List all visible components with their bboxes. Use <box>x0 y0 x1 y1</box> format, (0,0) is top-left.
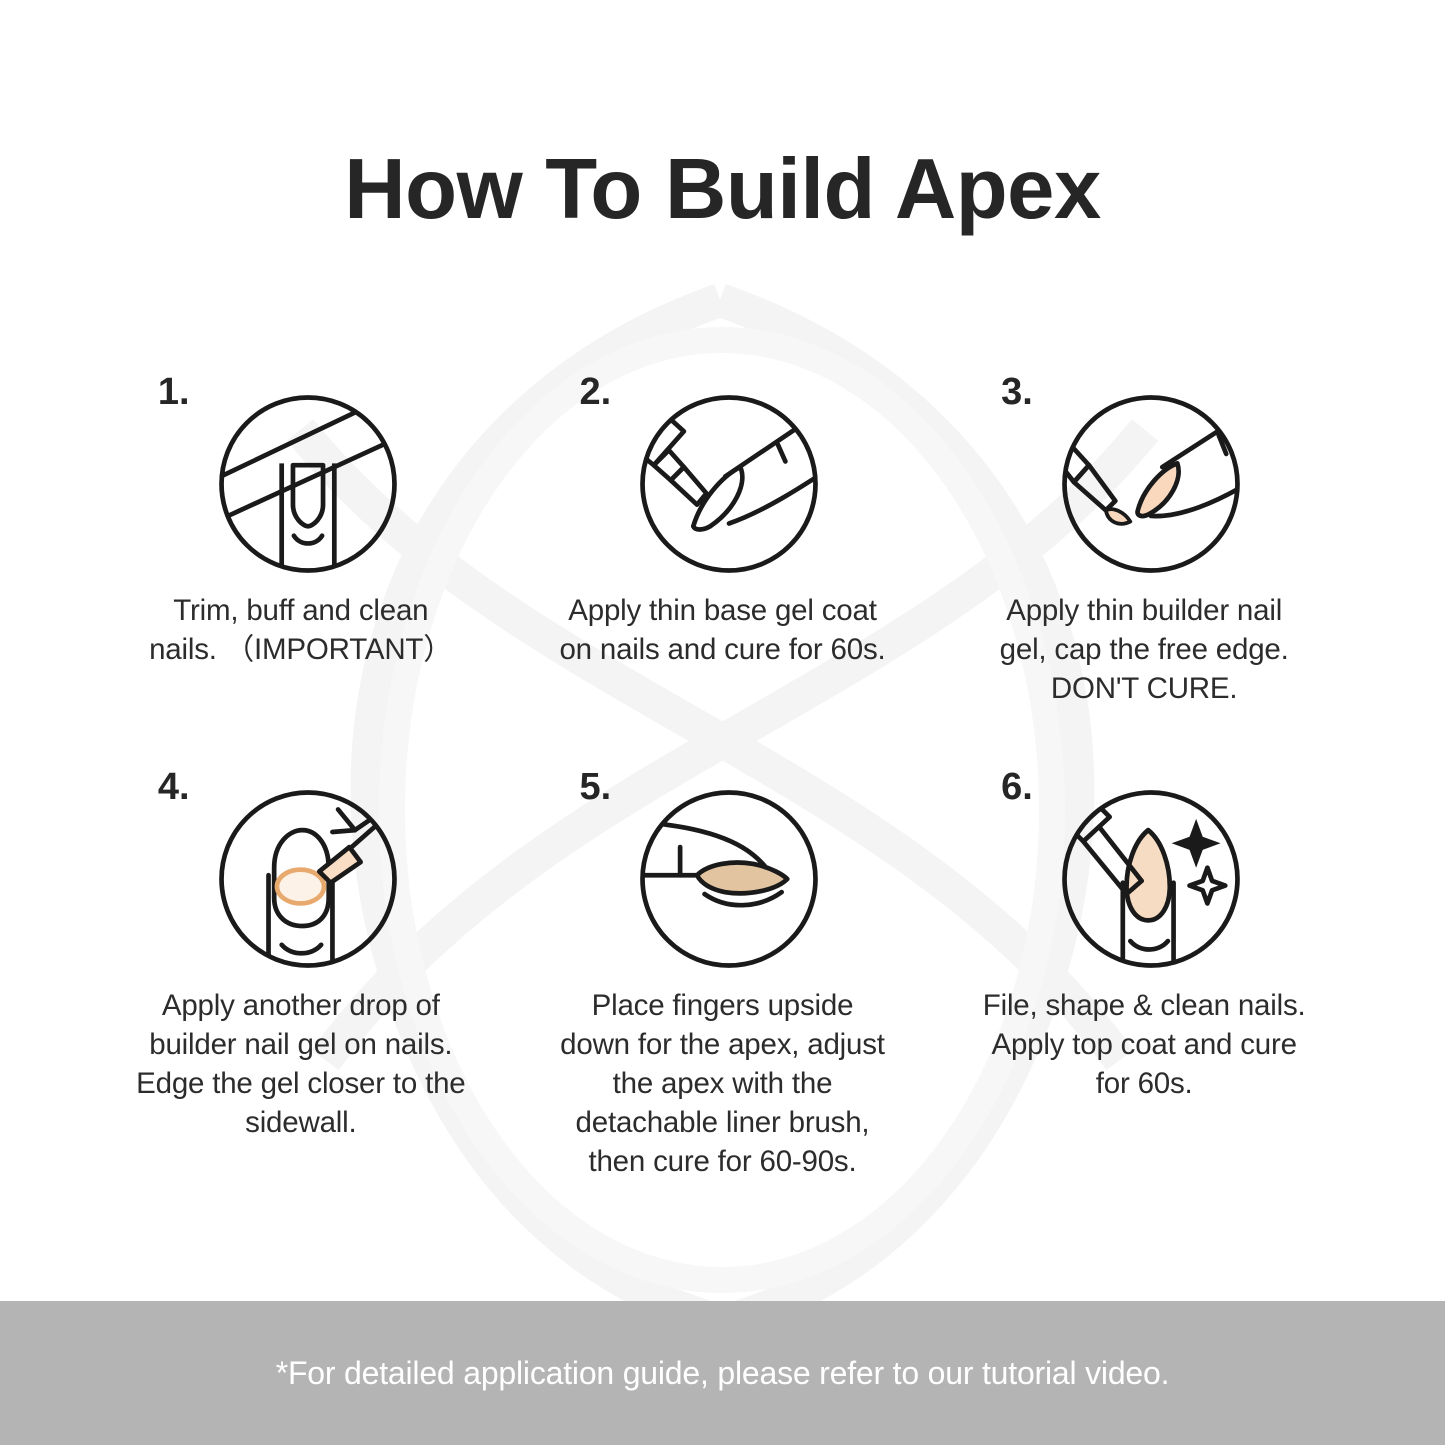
brush-applying-base-gel-icon <box>635 390 823 578</box>
finger-upside-down-apex-icon <box>635 785 823 973</box>
step-item-5: 5. <box>512 763 934 1181</box>
step-4-caption: Apply another drop of builder nail gel o… <box>136 986 466 1142</box>
nail-file-on-finger-icon <box>214 390 402 578</box>
footer-note: *For detailed application guide, please … <box>276 1353 1170 1393</box>
step-5-illustration-area: 5. <box>577 763 867 978</box>
step-2-illustration-area: 2. <box>577 368 867 583</box>
step-3-caption: Apply thin builder nail gel, cap the fre… <box>979 591 1309 708</box>
step-2-number: 2. <box>579 372 611 412</box>
step-item-6: 6. <box>933 763 1355 1181</box>
step-2-caption: Apply thin base gel coat on nails and cu… <box>557 591 887 669</box>
step-1-number: 1. <box>158 372 190 412</box>
step-6-caption: File, shape & clean nails. Apply top coa… <box>979 986 1309 1103</box>
step-4-number: 4. <box>158 767 190 807</box>
step-3-illustration-area: 3. <box>999 368 1289 583</box>
step-4-illustration-area: 4. <box>156 763 446 978</box>
step-item-1: 1. <box>90 368 512 708</box>
steps-grid: 1. <box>90 368 1355 1181</box>
gel-drop-on-nail-icon <box>214 785 402 973</box>
step-1-caption: Trim, buff and clean nails. （IMPORTANT） <box>136 591 466 669</box>
footer-bar: *For detailed application guide, please … <box>0 1301 1445 1445</box>
infographic-page: How To Build Apex 1. <box>0 0 1445 1445</box>
step-item-3: 3. <box>933 368 1355 708</box>
step-6-illustration-area: 6. <box>999 763 1289 978</box>
file-shape-sparkle-nail-icon <box>1057 785 1245 973</box>
step-item-2: 2. <box>512 368 934 708</box>
step-5-number: 5. <box>579 767 611 807</box>
step-5-caption: Place fingers upside down for the apex, … <box>557 986 887 1181</box>
step-1-illustration-area: 1. <box>156 368 446 583</box>
step-6-number: 6. <box>1001 767 1033 807</box>
step-3-number: 3. <box>1001 372 1033 412</box>
page-title: How To Build Apex <box>0 140 1445 240</box>
brush-capping-free-edge-icon <box>1057 390 1245 578</box>
step-item-4: 4. <box>90 763 512 1181</box>
